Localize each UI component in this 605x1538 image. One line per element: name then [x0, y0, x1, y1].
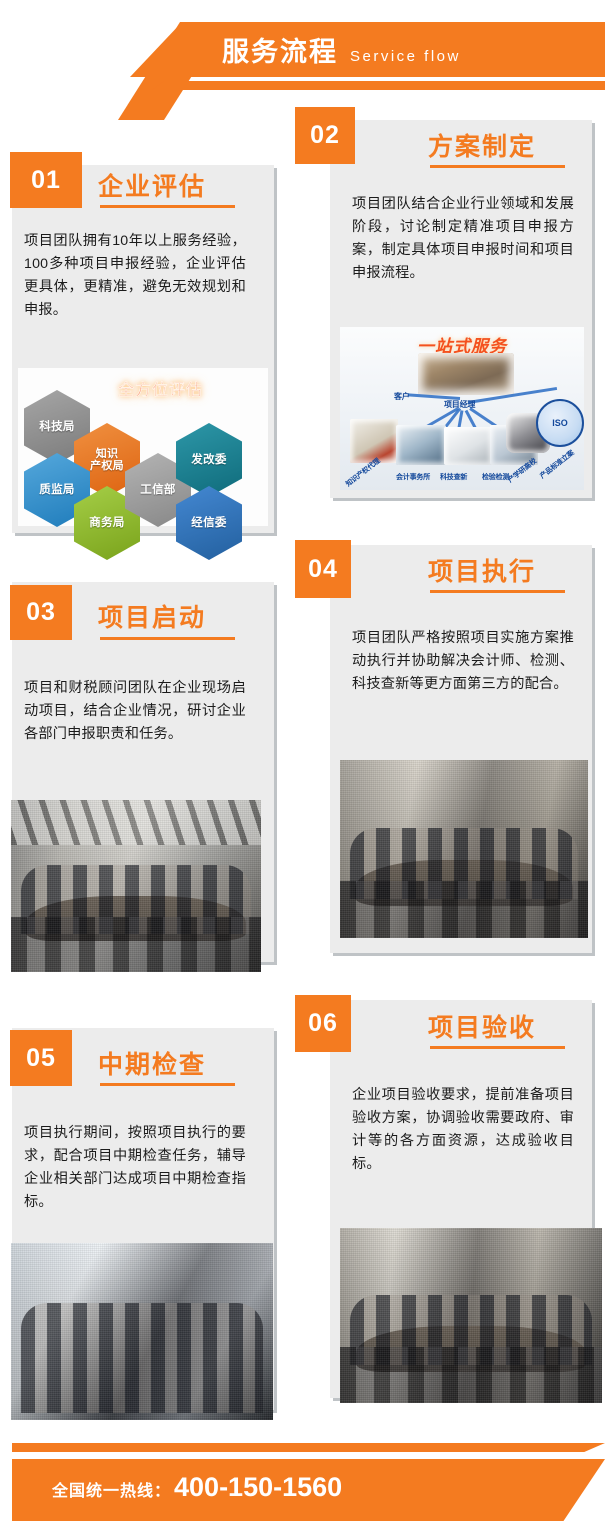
hex-node-label: 商务局	[89, 517, 124, 530]
footer-hotline: 全国统一热线： 400-150-1560	[52, 1472, 342, 1503]
one-stop-label-manager: 项目经理	[444, 399, 475, 410]
hex-node-label: 科技局	[39, 421, 74, 434]
page-title-cn: 服务流程	[222, 30, 338, 69]
hex-node-label: 知识产权局	[90, 448, 124, 472]
hex-diagram: 全方位评估 科技局 知识产权局 质监局 商务局 工信部 发改委 经信委	[18, 368, 268, 526]
step-title-rule-04	[430, 590, 565, 593]
hex-node-label: 质监局	[39, 484, 74, 497]
step-badge-02: 02	[295, 107, 355, 164]
photo-grain-overlay	[11, 1243, 273, 1420]
footer-stripe	[12, 1443, 605, 1452]
page-header: 服务流程 Service flow	[0, 0, 605, 120]
step-badge-03: 03	[10, 585, 72, 640]
one-stop-center-photo	[418, 353, 514, 395]
step-body-05: 项目执行期间，按照项目执行的要求，配合项目中期检查任务，辅导企业相关部门达成项目…	[24, 1122, 246, 1214]
step-number-02: 02	[310, 121, 340, 150]
photo-grain-overlay	[340, 1228, 602, 1403]
step-title-rule-06	[430, 1046, 565, 1049]
step-photo-06	[340, 1228, 602, 1403]
step-number-05: 05	[26, 1044, 56, 1073]
one-stop-seal-text: ISO	[552, 418, 568, 428]
one-stop-seal-icon: ISO	[536, 399, 584, 447]
one-stop-branch-label: 产品标准立案	[538, 448, 576, 481]
step-title-02: 方案制定	[428, 127, 536, 163]
step-number-04: 04	[308, 555, 338, 584]
step-body-01: 项目团队拥有10年以上服务经验，100多种项目申报经验，企业评估更具体，更精准，…	[24, 230, 246, 322]
one-stop-diagram: 一站式服务 客户 项目经理 ISO 知识产权代理 会计事务所 科技查新 检验检测…	[340, 327, 584, 490]
header-banner-underline	[152, 81, 605, 90]
step-body-04: 项目团队严格按照项目实施方案推动执行并协助解决会计师、检测、科技查新等更方面第三…	[352, 627, 574, 696]
hex-node-label: 工信部	[140, 484, 175, 497]
one-stop-branch-label: 科技查新	[440, 472, 467, 482]
one-stop-branch-label: 会计事务所	[396, 472, 430, 482]
step-title-03: 项目启动	[98, 598, 206, 634]
step-title-06: 项目验收	[428, 1008, 536, 1044]
step-title-05: 中期检查	[98, 1045, 206, 1081]
hex-node-label: 发改委	[191, 454, 226, 467]
step-photo-03	[11, 800, 261, 972]
page-title: 服务流程 Service flow	[222, 30, 461, 69]
one-stop-node-photo	[444, 427, 492, 465]
one-stop-label-customer: 客户	[394, 391, 410, 402]
page-title-en: Service flow	[350, 48, 461, 65]
step-title-rule-02	[430, 165, 565, 168]
step-title-rule-03	[100, 637, 235, 640]
photo-grain-overlay	[340, 760, 588, 938]
footer-hotline-label: 全国统一热线：	[52, 1477, 171, 1501]
one-stop-node-photo	[396, 425, 446, 465]
step-body-02: 项目团队结合企业行业领域和发展阶段，讨论制定精准项目申报方案，制定具体项目申报时…	[352, 193, 574, 285]
infographic-page: 服务流程 Service flow 01 企业评估 项目团队拥有10年以上服务经…	[0, 0, 605, 1538]
step-title-04: 项目执行	[428, 552, 536, 588]
step-title-01: 企业评估	[98, 167, 206, 203]
step-badge-05: 05	[10, 1030, 72, 1086]
step-number-06: 06	[308, 1009, 338, 1038]
step-badge-01: 01	[10, 152, 82, 208]
step-photo-05	[11, 1243, 273, 1420]
hex-diagram-title: 全方位评估	[118, 376, 203, 400]
step-badge-06: 06	[295, 995, 351, 1052]
step-body-06: 企业项目验收要求，提前准备项目验收方案，协调验收需要政府、审计等的各方面资源，达…	[352, 1084, 574, 1176]
step-photo-04	[340, 760, 588, 938]
step-number-01: 01	[31, 166, 61, 195]
step-title-rule-05	[100, 1083, 235, 1086]
photo-grain-overlay	[11, 800, 261, 972]
step-number-03: 03	[26, 598, 56, 627]
step-body-03: 项目和财税顾问团队在企业现场启动项目，结合企业情况，研讨企业各部门申报职责和任务…	[24, 677, 246, 746]
footer-hotline-number: 400-150-1560	[174, 1472, 342, 1503]
hex-node-label: 经信委	[191, 517, 226, 530]
step-badge-04: 04	[295, 540, 351, 598]
step-title-rule-01	[100, 205, 235, 208]
